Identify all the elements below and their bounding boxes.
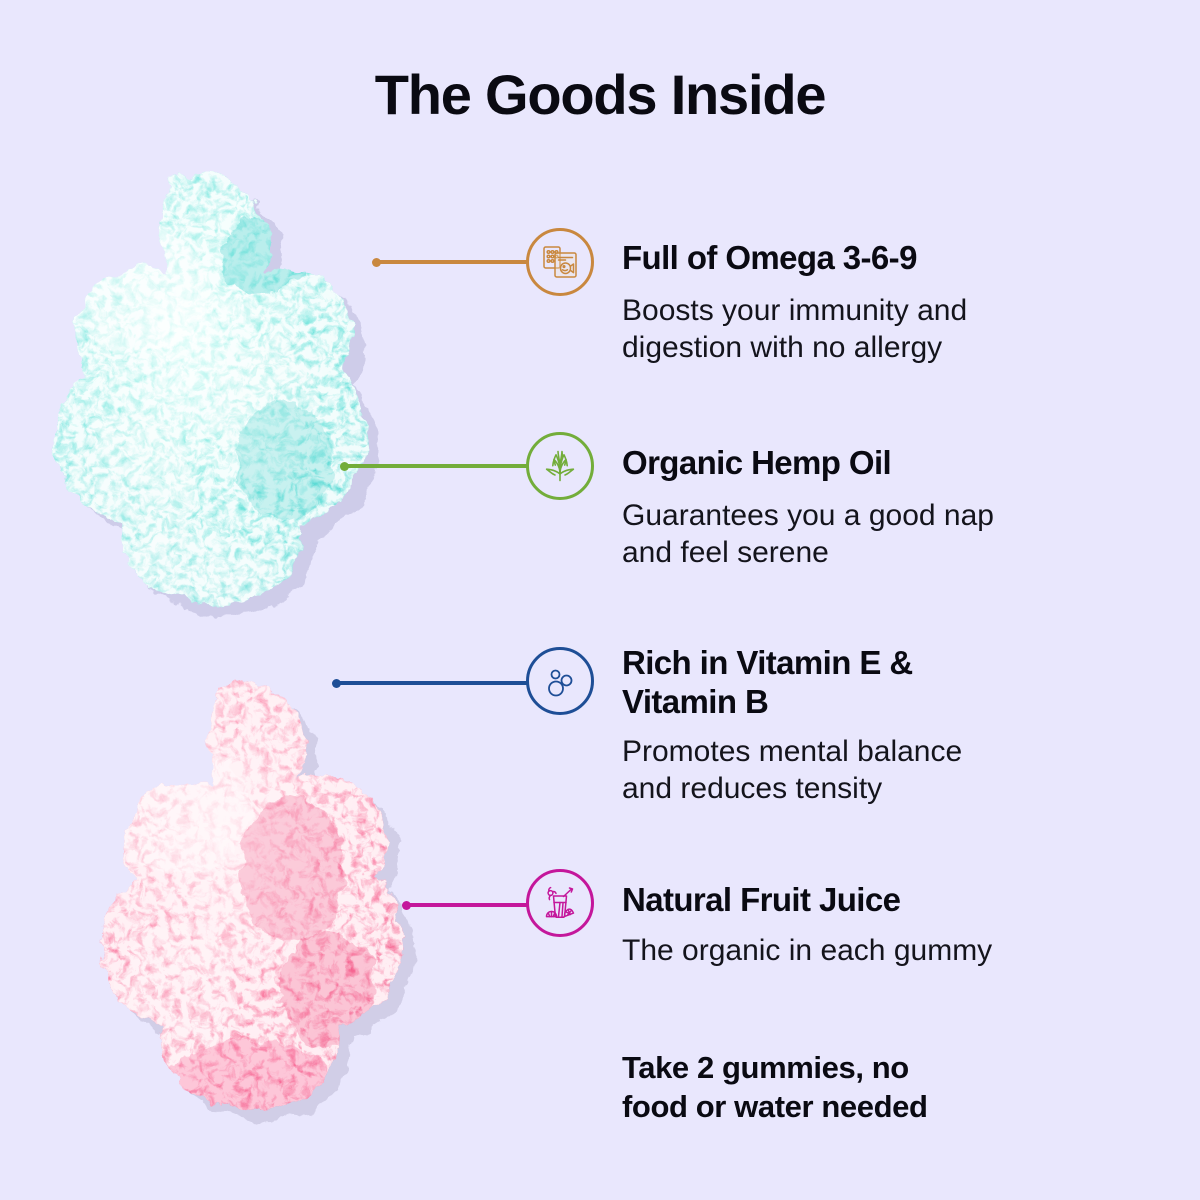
feature-title-omega: Full of Omega 3-6-9 [622,238,1092,277]
hemp-leaf-icon [526,432,594,500]
vitamin-cell-bubbles-icon [526,647,594,715]
connector-dot-juice [402,901,411,910]
feature-description-omega: Boosts your immunity and digestion with … [622,292,1102,366]
connector-line-vitamin [336,681,528,685]
feature-description-vitamin: Promotes mental balance and reduces tens… [622,733,1122,807]
feature-description-hemp: Guarantees you a good nap and feel seren… [622,497,1142,571]
infographic-canvas: The Goods Inside [0,0,1200,1200]
connector-line-hemp [344,464,528,468]
blue-gummy-bear-image [20,160,420,630]
omega-fish-card-icon [526,228,594,296]
feature-description-juice: The organic in each gummy [622,932,1142,969]
connector-dot-vitamin [332,679,341,688]
connector-dot-omega [372,258,381,267]
feature-title-vitamin: Rich in Vitamin E & Vitamin B [622,643,1092,721]
connector-line-juice [406,903,528,907]
fruit-juice-glass-icon [526,869,594,937]
connector-dot-hemp [340,462,349,471]
feature-title-juice: Natural Fruit Juice [622,880,1092,919]
dosage-footnote: Take 2 gummies, no food or water needed [622,1048,1092,1126]
pink-gummy-bear-image [60,670,460,1130]
feature-title-hemp: Organic Hemp Oil [622,443,1092,482]
connector-line-omega [376,260,528,264]
page-title: The Goods Inside [0,62,1200,127]
